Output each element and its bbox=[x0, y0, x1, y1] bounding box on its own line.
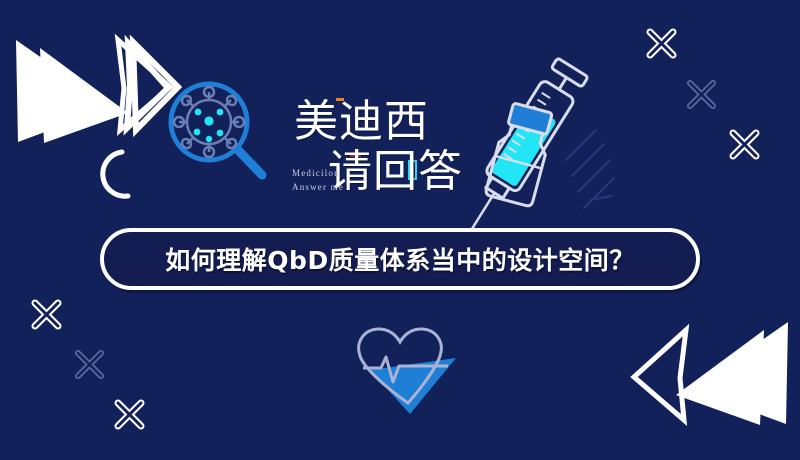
brand-logo: 美迪西 请回答 Medicilon Answer me bbox=[288, 96, 488, 221]
triangle-stroke-bottom-right bbox=[634, 330, 686, 420]
syringe-plunger-rod bbox=[559, 78, 566, 90]
virus-nucleus-dots bbox=[194, 109, 224, 143]
headline-pill: 如何理解QbD质量体系当中的设计空间？ bbox=[100, 228, 700, 290]
open-arc-decoration bbox=[103, 152, 128, 196]
double-triangle-right-decoration bbox=[16, 40, 178, 143]
logo-english-line1: Medicilon bbox=[292, 168, 340, 178]
logo-chinese-line1: 美迪西 bbox=[294, 100, 429, 144]
crosses-top-right bbox=[650, 32, 756, 156]
headline-text: 如何理解QbD质量体系当中的设计空间？ bbox=[165, 241, 634, 277]
crosses-bottom-left bbox=[35, 303, 141, 426]
cross-icon-2-inner bbox=[690, 83, 713, 106]
magnifier-virus-icon bbox=[171, 84, 262, 175]
syringe-plunger-head bbox=[551, 58, 588, 87]
magnifier-handle bbox=[238, 150, 262, 175]
double-triangle-left-decoration bbox=[634, 322, 788, 425]
triangle-filled-top-left-b bbox=[40, 48, 128, 143]
logo-english-line2: Answer me bbox=[292, 182, 344, 192]
cross-icon-6-inner bbox=[118, 403, 141, 426]
cross-icon-3-inner bbox=[733, 133, 756, 156]
diagonal-hatch-decoration bbox=[566, 130, 614, 208]
logo-chinese-line2: 请回答 bbox=[328, 150, 463, 194]
heart-pulse-icon bbox=[359, 329, 456, 414]
cross-icon-1-inner bbox=[650, 32, 673, 55]
cross-icon-4-inner bbox=[35, 303, 58, 326]
vial-cap bbox=[508, 103, 552, 135]
cross-icon-5-inner bbox=[78, 353, 101, 376]
banner-root: 美迪西 请回答 Medicilon Answer me 如何理解QbD质量体系当… bbox=[0, 0, 800, 460]
